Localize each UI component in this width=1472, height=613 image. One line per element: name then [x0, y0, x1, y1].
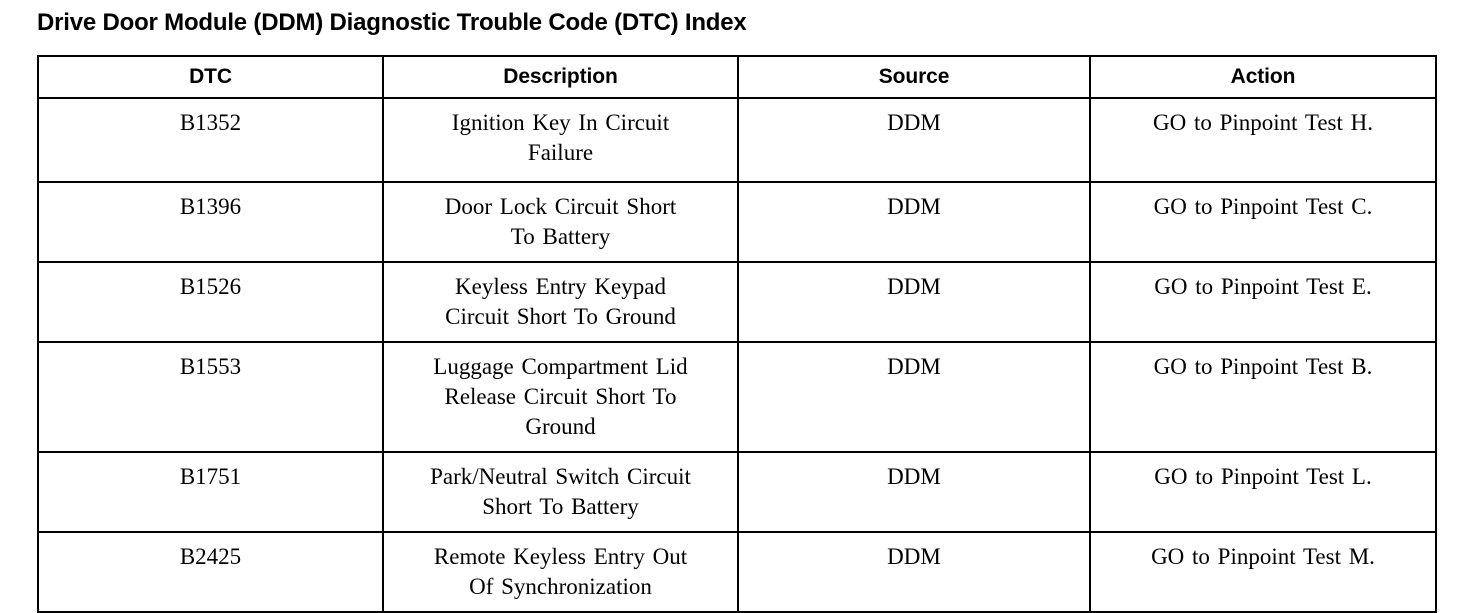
cell-source: DDM [738, 182, 1090, 262]
page-title: Drive Door Module (DDM) Diagnostic Troub… [37, 8, 747, 38]
cell-description: Remote Keyless Entry Out Of Synchronizat… [383, 532, 738, 612]
cell-action: GO to Pinpoint Test H. [1090, 98, 1436, 182]
cell-description: Luggage Compartment Lid Release Circuit … [383, 342, 738, 452]
column-header-source: Source [738, 56, 1090, 98]
dtc-index-table: DTC Description Source Action B1352 Igni… [37, 55, 1437, 613]
cell-dtc: B1526 [38, 262, 383, 342]
cell-action: GO to Pinpoint Test B. [1090, 342, 1436, 452]
column-header-action: Action [1090, 56, 1436, 98]
table-header-row: DTC Description Source Action [38, 56, 1436, 98]
cell-action: GO to Pinpoint Test E. [1090, 262, 1436, 342]
cell-dtc: B1352 [38, 98, 383, 182]
table-header: DTC Description Source Action [38, 56, 1436, 98]
cell-action: GO to Pinpoint Test C. [1090, 182, 1436, 262]
cell-dtc: B1396 [38, 182, 383, 262]
cell-action: GO to Pinpoint Test M. [1090, 532, 1436, 612]
column-header-dtc: DTC [38, 56, 383, 98]
cell-source: DDM [738, 532, 1090, 612]
table-row: B1352 Ignition Key In Circuit Failure DD… [38, 98, 1436, 182]
cell-source: DDM [738, 262, 1090, 342]
table-row: B1396 Door Lock Circuit Short To Battery… [38, 182, 1436, 262]
cell-action: GO to Pinpoint Test L. [1090, 452, 1436, 532]
cell-source: DDM [738, 452, 1090, 532]
table-body: B1352 Ignition Key In Circuit Failure DD… [38, 98, 1436, 612]
cell-source: DDM [738, 342, 1090, 452]
page-root: Drive Door Module (DDM) Diagnostic Troub… [0, 0, 1472, 596]
cell-description: Keyless Entry Keypad Circuit Short To Gr… [383, 262, 738, 342]
cell-description: Door Lock Circuit Short To Battery [383, 182, 738, 262]
cell-description: Ignition Key In Circuit Failure [383, 98, 738, 182]
table-row: B1751 Park/Neutral Switch Circuit Short … [38, 452, 1436, 532]
cell-dtc: B2425 [38, 532, 383, 612]
table-row: B1526 Keyless Entry Keypad Circuit Short… [38, 262, 1436, 342]
table-row: B2425 Remote Keyless Entry Out Of Synchr… [38, 532, 1436, 612]
cell-dtc: B1751 [38, 452, 383, 532]
table-row: B1553 Luggage Compartment Lid Release Ci… [38, 342, 1436, 452]
cell-source: DDM [738, 98, 1090, 182]
cell-description: Park/Neutral Switch Circuit Short To Bat… [383, 452, 738, 532]
column-header-description: Description [383, 56, 738, 98]
cell-dtc: B1553 [38, 342, 383, 452]
